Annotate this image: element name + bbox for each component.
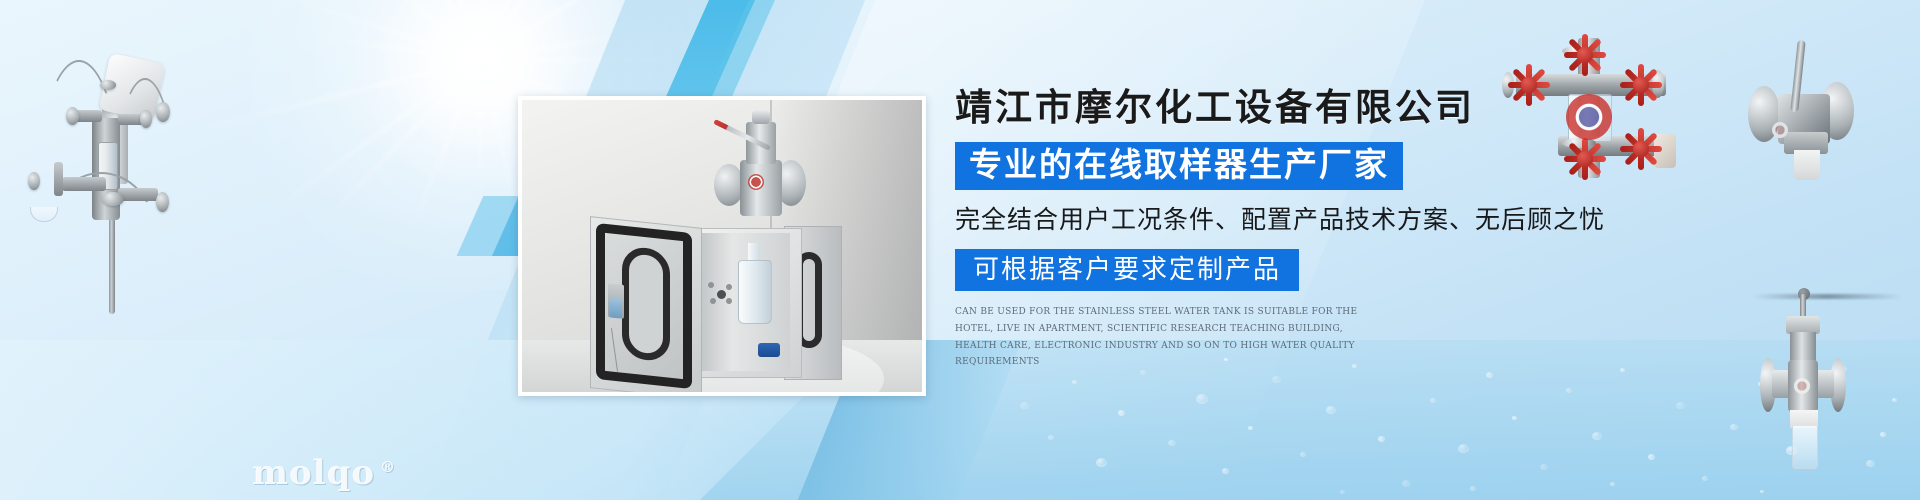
water-drop bbox=[1648, 454, 1655, 460]
water-drop bbox=[1402, 480, 1411, 487]
sun-ray-icon bbox=[479, 60, 482, 210]
tagline-sub: 完全结合用户工况条件、配置产品技术方案、无后顾之忧 bbox=[955, 205, 1675, 235]
water-drop bbox=[1248, 426, 1253, 430]
water-drop bbox=[1566, 388, 1572, 393]
relief-valve bbox=[54, 162, 63, 196]
watermark-text: molqo bbox=[252, 453, 375, 493]
sun-ray-icon bbox=[287, 0, 480, 61]
water-drop bbox=[1702, 476, 1708, 481]
water-drop bbox=[1592, 432, 1602, 440]
banner-text-block: 靖江市摩尔化工设备有限公司 专业的在线取样器生产厂家 完全结合用户工况条件、配置… bbox=[955, 86, 1675, 371]
hole-3 bbox=[710, 298, 716, 304]
blue-cap bbox=[758, 343, 780, 357]
valve-left-lower bbox=[62, 177, 106, 191]
handwheel-top[interactable] bbox=[1564, 34, 1606, 76]
door-window bbox=[622, 245, 670, 362]
water-drop bbox=[1168, 440, 1176, 446]
flange-f bbox=[156, 192, 169, 212]
water-drop bbox=[1326, 406, 1336, 414]
cabinet-hole-plate bbox=[708, 282, 734, 304]
water-drop bbox=[1118, 410, 1125, 416]
watermark-logo: molqo® bbox=[252, 453, 396, 493]
water-drop bbox=[1048, 435, 1054, 440]
water-drop bbox=[1676, 402, 1685, 409]
water-drop bbox=[1020, 402, 1029, 409]
flange-g bbox=[102, 192, 124, 206]
water-drop bbox=[1486, 372, 1493, 378]
sun-ray-icon bbox=[296, 0, 481, 61]
top-valve-assembly bbox=[714, 108, 806, 234]
water-drop bbox=[1300, 452, 1306, 457]
english-description: CAN BE USED FOR THE STAINLESS STEEL WATE… bbox=[955, 304, 1385, 371]
lever-valve-seal-icon bbox=[1772, 122, 1788, 138]
water-drop bbox=[1540, 464, 1548, 470]
sample-bottle bbox=[738, 260, 772, 324]
photo-content bbox=[522, 100, 922, 392]
hole-4 bbox=[726, 298, 732, 304]
flange-b bbox=[140, 110, 152, 128]
sun-ray-icon bbox=[479, 0, 495, 60]
right-side-product-image bbox=[1738, 36, 1878, 196]
tagline-main-badge: 专业的在线取样器生产厂家 bbox=[955, 142, 1403, 190]
right-bottom-product-image bbox=[1752, 286, 1902, 476]
sun-ray-icon bbox=[323, 59, 481, 222]
hole-2 bbox=[726, 284, 732, 290]
water-drop bbox=[1096, 458, 1107, 467]
handwheel-hub bbox=[1577, 47, 1593, 63]
flange-c bbox=[100, 80, 116, 90]
sun-ray-icon bbox=[349, 0, 481, 61]
water-drop bbox=[1512, 416, 1517, 420]
flange-d bbox=[156, 102, 170, 122]
valve-right-lower bbox=[118, 188, 158, 201]
sun-ray-icon bbox=[316, 36, 480, 62]
flange-e bbox=[28, 172, 40, 190]
lever-valve-outlet bbox=[1794, 150, 1820, 180]
sun-ray-icon bbox=[382, 0, 482, 60]
water-drop bbox=[1458, 444, 1469, 453]
mounting-bar bbox=[1752, 294, 1902, 299]
hole-center bbox=[717, 290, 726, 299]
water-drop bbox=[1760, 490, 1764, 493]
water-drop bbox=[1272, 376, 1281, 383]
registered-mark-icon: ® bbox=[380, 458, 396, 476]
water-drop bbox=[1470, 486, 1476, 491]
flange-a bbox=[66, 107, 79, 125]
water-drop bbox=[1222, 468, 1229, 474]
water-drop bbox=[1072, 380, 1077, 384]
valve-knob bbox=[752, 110, 770, 124]
water-drop bbox=[1340, 490, 1345, 494]
sun-ray-icon bbox=[190, 59, 480, 134]
center-product-photo bbox=[518, 96, 926, 396]
bottom-valve-seal-icon bbox=[1794, 378, 1810, 394]
brand-seal-icon bbox=[748, 174, 764, 190]
sun-ray-icon bbox=[479, 0, 631, 61]
water-drop bbox=[1378, 436, 1385, 442]
tagline-custom-badge: 可根据客户要求定制产品 bbox=[955, 249, 1299, 292]
company-name: 靖江市摩尔化工设备有限公司 bbox=[955, 86, 1675, 129]
sun-ray-icon bbox=[479, 0, 727, 61]
sun-ray-icon bbox=[479, 60, 524, 229]
sun-ray-icon bbox=[479, 0, 577, 61]
water-drop bbox=[1196, 394, 1208, 404]
water-drop bbox=[1610, 482, 1615, 486]
bottom-sample-vial bbox=[1792, 426, 1818, 469]
left-product-image bbox=[6, 22, 186, 312]
promo-banner: 靖江市摩尔化工设备有限公司 专业的在线取样器生产厂家 完全结合用户工况条件、配置… bbox=[0, 0, 1920, 500]
sun-ray-icon bbox=[268, 59, 481, 215]
sun-ray-icon bbox=[409, 59, 482, 234]
door-latch-tag bbox=[610, 297, 622, 318]
sun-ray-icon bbox=[480, 31, 636, 61]
water-drop bbox=[1430, 398, 1436, 403]
water-drop bbox=[1730, 424, 1738, 430]
sun-ray-icon bbox=[480, 59, 675, 62]
hole-1 bbox=[708, 282, 714, 288]
